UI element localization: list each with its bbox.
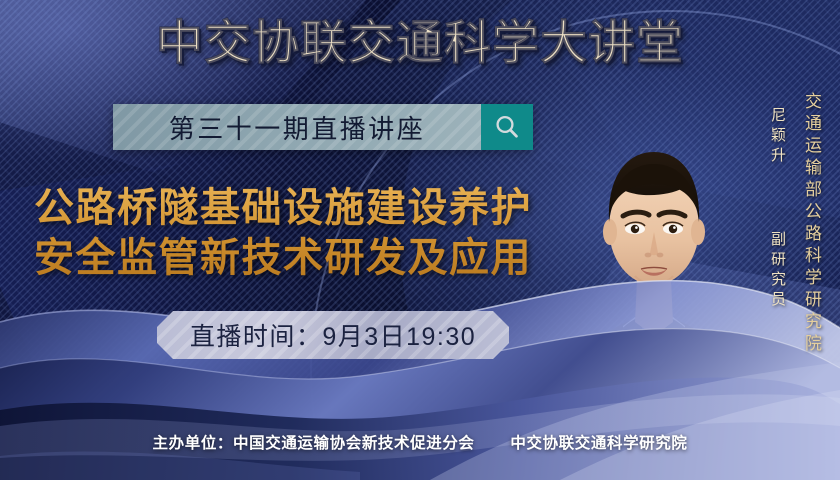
episode-banner: 第三十一期直播讲座 — [113, 104, 533, 150]
speaker-name-and-title: 尼颖升 副研究员 — [767, 107, 788, 311]
speaker-name: 尼颖升 — [769, 107, 786, 167]
organizer-label: 主办单位：中国交通运输协会新技术促进分会 — [153, 435, 475, 452]
speaker-affiliation: 交通运输部公路科学研究院 — [799, 92, 824, 356]
episode-label: 第三十一期直播讲座 — [169, 109, 426, 146]
speaker-title-spacer — [769, 189, 786, 209]
search-button[interactable] — [481, 104, 533, 150]
page-title: 中交协联交通科学大讲堂 — [0, 18, 840, 68]
speaker-job-title: 副研究员 — [769, 231, 786, 311]
co-organizer-label: 中交协联交通科学研究院 — [510, 435, 687, 452]
lecture-title: 公路桥隧基础设施建设养护 安全监管新技术研发及应用 — [34, 184, 594, 283]
organizer-footer: 主办单位：中国交通运输协会新技术促进分会 中交协联交通科学研究院 — [0, 431, 840, 453]
live-stream-poster: 中交协联交通科学大讲堂 第三十一期直播讲座 公路桥隧基础设施建设养护 安全监管新… — [0, 0, 840, 480]
broadcast-time-chip: 直播时间：9月3日19:30 — [157, 311, 509, 359]
lecture-title-line-2: 安全监管新技术研发及应用 — [34, 234, 594, 284]
search-icon — [493, 113, 521, 141]
lecture-title-line-1: 公路桥隧基础设施建设养护 — [34, 184, 594, 234]
broadcast-time-label: 直播时间：9月3日19:30 — [190, 317, 476, 353]
episode-banner-background: 第三十一期直播讲座 — [113, 104, 481, 150]
